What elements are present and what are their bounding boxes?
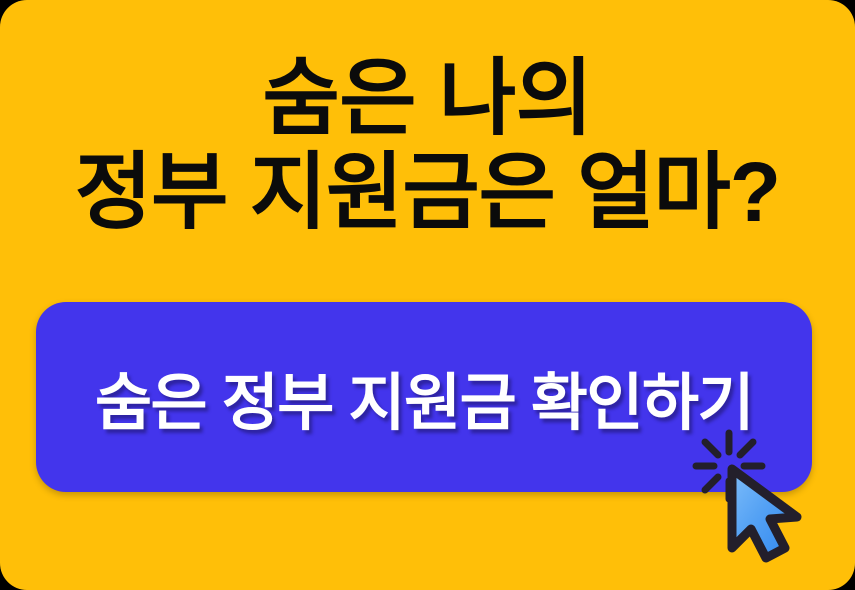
headline-line-1: 숨은 나의	[0, 56, 855, 150]
check-government-subsidy-button[interactable]: 숨은 정부 지원금 확인하기	[36, 302, 812, 492]
promo-banner: 숨은 나의 정부 지원금은 얼마? 숨은 정부 지원금 확인하기	[0, 0, 855, 590]
headline-line-2: 정부 지원금은 얼마?	[0, 150, 855, 234]
headline-block: 숨은 나의 정부 지원금은 얼마?	[0, 56, 855, 234]
cta-button-label: 숨은 정부 지원금 확인하기	[95, 352, 753, 442]
